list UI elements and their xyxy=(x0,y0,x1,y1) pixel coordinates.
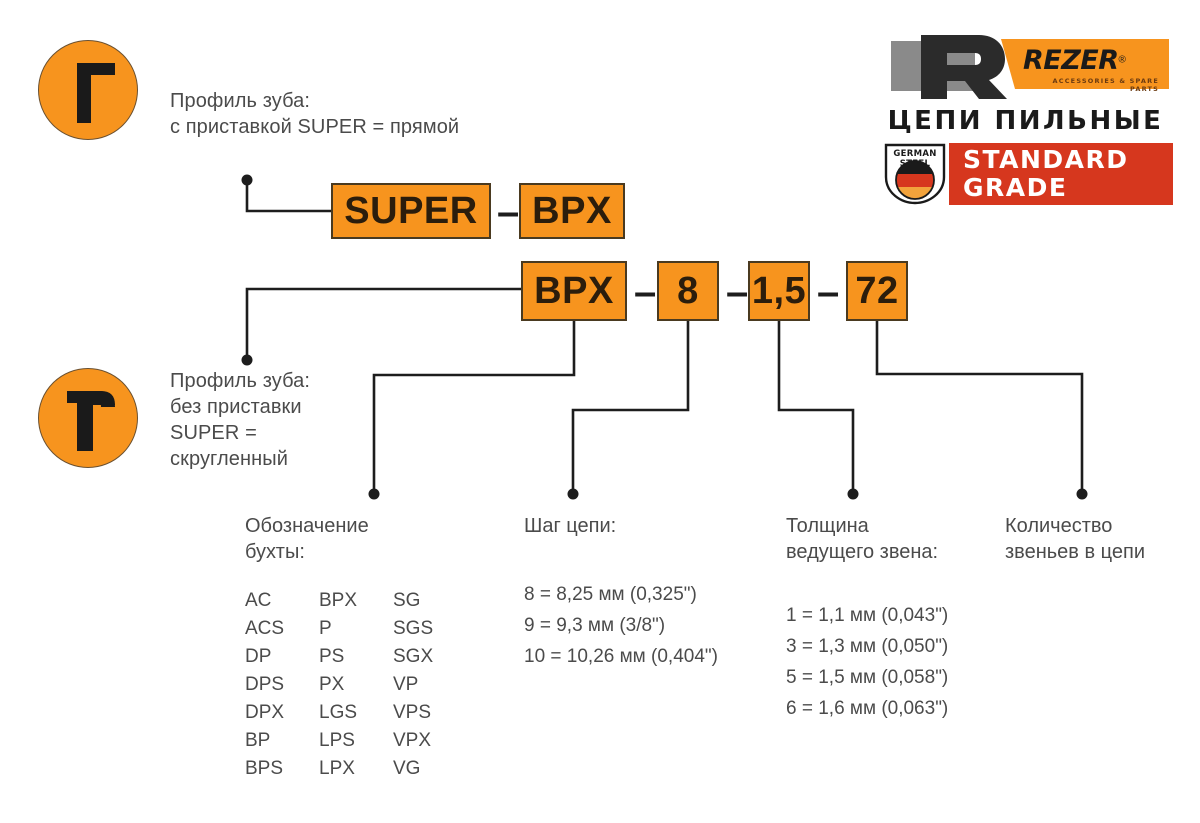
grade-row: GERMAN STEEL STANDARD GRADE xyxy=(883,143,1173,205)
infographic-page: Профиль зуба: с приставкой SUPER = прямо… xyxy=(0,0,1200,823)
legend-row: ACSPSGS xyxy=(245,615,495,643)
code-box-pitch[interactable]: 8 xyxy=(657,261,719,321)
registered-mark: ® xyxy=(1119,55,1126,66)
note-tooth-profile-plain: Профиль зуба: без приставки SUPER = скру… xyxy=(170,368,360,472)
legend-cell: PS xyxy=(319,643,393,671)
legend-coil-title: Обозначение бухты: xyxy=(245,513,495,565)
legend-row: 3 = 1,3 мм (0,050") xyxy=(786,631,1001,662)
legend-row: BPSLPXVG xyxy=(245,755,495,783)
legend-cell: BPS xyxy=(245,755,319,783)
code-box-links[interactable]: 72 xyxy=(846,261,908,321)
legend-cell: SGX xyxy=(393,643,467,671)
legend-cell: LGS xyxy=(319,699,393,727)
legend-drive-link-gauge: Толщина ведущего звена: 1 = 1,1 мм (0,04… xyxy=(786,513,1001,724)
code-box-bpx[interactable]: BPX xyxy=(521,261,627,321)
legend-row: DPPSSGX xyxy=(245,643,495,671)
german-steel-line1: GERMAN xyxy=(891,149,939,159)
legend-gauge-title: Толщина ведущего звена: xyxy=(786,513,1001,565)
rezer-tagline: ACCESSORIES & SPARE PARTS xyxy=(1023,77,1173,93)
code-separator-2: – xyxy=(726,272,748,312)
german-steel-line2: STEEL xyxy=(891,159,939,169)
legend-cell: VPS xyxy=(393,699,467,727)
brand-logo-block: REZER® ACCESSORIES & SPARE PARTS ЦЕПИ ПИ… xyxy=(883,33,1173,205)
legend-number-of-links: Количество звеньев в цепи xyxy=(1005,513,1190,565)
legend-cell: BP xyxy=(245,727,319,755)
tooth-profile-straight-badge xyxy=(38,40,138,140)
code-box-super[interactable]: SUPER xyxy=(331,183,491,239)
note-tooth-profile-super: Профиль зуба: с приставкой SUPER = прямо… xyxy=(170,88,530,140)
legend-cell: SG xyxy=(393,587,467,615)
legend-links-title: Количество звеньев в цепи xyxy=(1005,513,1190,565)
legend-row: 9 = 9,3 мм (3/8") xyxy=(524,610,774,641)
connector-dot-pitch xyxy=(568,489,579,500)
legend-row: DPXLGSVPS xyxy=(245,699,495,727)
legend-cell: LPX xyxy=(319,755,393,783)
chains-heading: ЦЕПИ ПИЛЬНЫЕ xyxy=(883,106,1168,136)
standard-grade-line1: STANDARD xyxy=(963,146,1173,174)
standard-grade-line2: GRADE xyxy=(963,174,1173,202)
code-separator-top: – xyxy=(497,192,519,232)
legend-cell: DP xyxy=(245,643,319,671)
legend-cell: LPS xyxy=(319,727,393,755)
standard-grade-block: STANDARD GRADE xyxy=(949,143,1173,205)
legend-cell: PX xyxy=(319,671,393,699)
legend-cell: BPX xyxy=(319,587,393,615)
code-box-gauge[interactable]: 1,5 xyxy=(748,261,810,321)
legend-pitch-rows: 8 = 8,25 мм (0,325")9 = 9,3 мм (3/8")10 … xyxy=(524,579,774,672)
legend-cell: VG xyxy=(393,755,467,783)
legend-pitch-title: Шаг цепи: xyxy=(524,513,774,539)
legend-row: ACBPXSG xyxy=(245,587,495,615)
tooth-straight-icon xyxy=(39,41,139,141)
legend-cell: VPX xyxy=(393,727,467,755)
legend-row: 6 = 1,6 мм (0,063") xyxy=(786,693,1001,724)
connector-dot-coil xyxy=(369,489,380,500)
code-box-bpx-top[interactable]: BPX xyxy=(519,183,625,239)
legend-cell: VP xyxy=(393,671,467,699)
code-separator-1: – xyxy=(634,272,656,312)
code-separator-3: – xyxy=(817,272,839,312)
legend-cell: DPS xyxy=(245,671,319,699)
connector-dot-top-note xyxy=(242,175,253,186)
tooth-rounded-icon xyxy=(39,369,139,469)
connector-dot-gauge xyxy=(848,489,859,500)
legend-row: 5 = 1,5 мм (0,058") xyxy=(786,662,1001,693)
legend-row: BPLPSVPX xyxy=(245,727,495,755)
legend-cell: DPX xyxy=(245,699,319,727)
tooth-profile-round-badge xyxy=(38,368,138,468)
legend-cell: SGS xyxy=(393,615,467,643)
legend-coil-rows: ACBPXSGACSPSGSDPPSSGXDPSPXVPDPXLGSVPSBPL… xyxy=(245,587,495,783)
legend-coil-designation: Обозначение бухты: ACBPXSGACSPSGSDPPSSGX… xyxy=(245,513,495,783)
legend-row: DPSPXVP xyxy=(245,671,495,699)
legend-cell: P xyxy=(319,615,393,643)
connector-dot-bottom-note xyxy=(242,355,253,366)
legend-row: 1 = 1,1 мм (0,043") xyxy=(786,600,1001,631)
legend-row: 10 = 10,26 мм (0,404") xyxy=(524,641,774,672)
connector-dot-links xyxy=(1077,489,1088,500)
legend-row: 8 = 8,25 мм (0,325") xyxy=(524,579,774,610)
rezer-logo: REZER® ACCESSORIES & SPARE PARTS xyxy=(883,33,1173,101)
legend-gauge-rows: 1 = 1,1 мм (0,043")3 = 1,3 мм (0,050")5 … xyxy=(786,600,1001,724)
legend-cell: ACS xyxy=(245,615,319,643)
legend-cell: AC xyxy=(245,587,319,615)
rezer-wordmark: REZER xyxy=(1023,45,1119,76)
legend-chain-pitch: Шаг цепи: 8 = 8,25 мм (0,325")9 = 9,3 мм… xyxy=(524,513,774,672)
